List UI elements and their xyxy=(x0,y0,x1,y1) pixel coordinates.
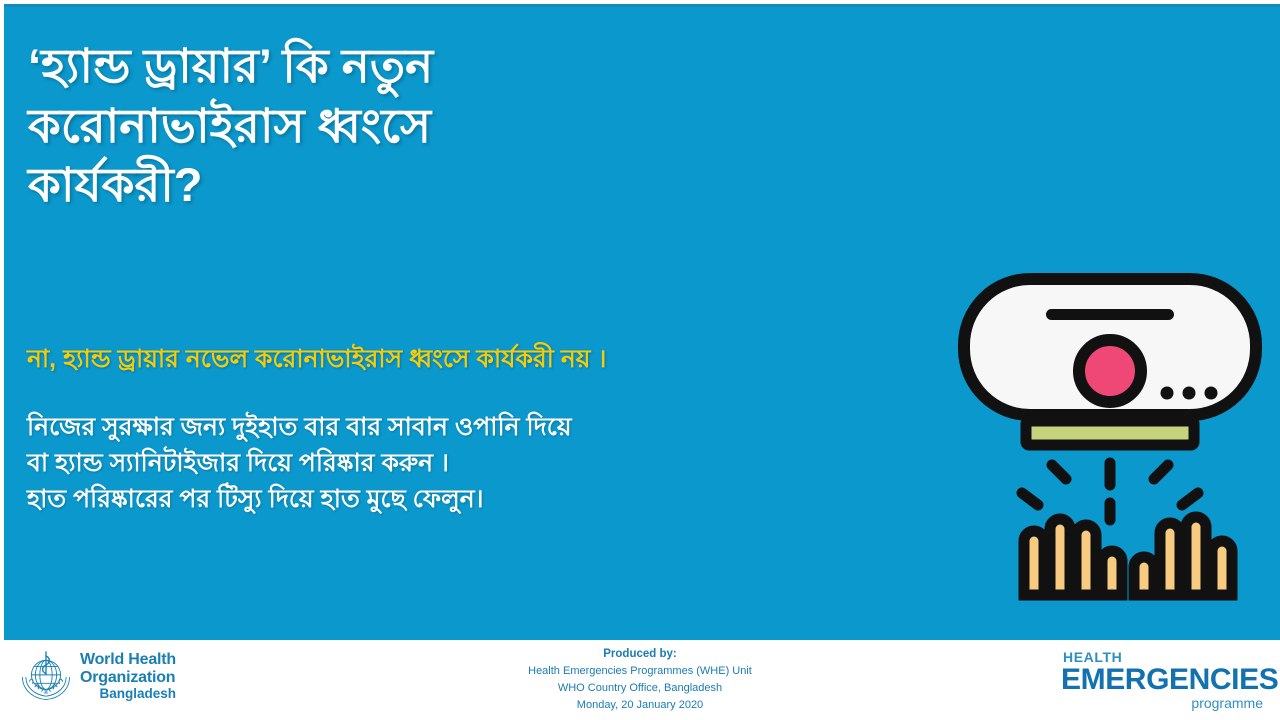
dryer-indicator-dots xyxy=(1161,387,1218,400)
hand-right xyxy=(1134,517,1232,595)
answer-statement: না, হ্যান্ড ড্রায়ার নভেল করোনাভাইরাস ধ্… xyxy=(27,343,927,376)
poster-root: ‘হ্যান্ড ড্রায়ার’ কি নতুন করোনাভাইরাস ধ… xyxy=(0,0,1280,720)
credit-unit: Health Emergencies Programmes (WHE) Unit xyxy=(440,663,840,680)
credit-office: WHO Country Office, Bangladesh xyxy=(440,680,840,697)
advice-line-2: বা হ্যান্ড স্যানিটাইজার দিয়ে পরিষ্কার ক… xyxy=(27,446,927,482)
page-title: ‘হ্যান্ড ড্রায়ার’ কি নতুন করোনাভাইরাস ধ… xyxy=(28,36,768,215)
advice-line-3: হাত পরিষ্কারের পর টিস্যু দিয়ে হাত মুছে … xyxy=(27,482,927,518)
who-emblem-icon xyxy=(18,648,74,704)
advice-block: নিজের সুরক্ষার জন্য দুইহাত বার বার সাবান… xyxy=(27,410,927,517)
advice-line-1: নিজের সুরক্ষার জন্য দুইহাত বার বার সাবান… xyxy=(27,410,927,446)
headline-line-1: ‘হ্যান্ড ড্রায়ার’ কি নতুন xyxy=(28,36,768,96)
hand-dryer-icon xyxy=(950,265,1270,605)
hand-left xyxy=(1024,519,1122,595)
who-country-label: Bangladesh xyxy=(80,687,176,702)
headline-line-3: কার্যকরী? xyxy=(28,155,768,215)
who-wordmark: World Health Organization Bangladesh xyxy=(80,648,176,702)
health-emergencies-programme-logo: HEALTH EMERGENCIES programme xyxy=(1061,650,1266,710)
footer-bar: World Health Organization Bangladesh Pro… xyxy=(0,640,1280,720)
credit-produced-by: Produced by: xyxy=(440,646,840,663)
hep-emergencies-label: EMERGENCIES xyxy=(1061,665,1266,695)
air-stream-dashes xyxy=(1022,463,1198,520)
who-logo: World Health Organization Bangladesh xyxy=(18,648,176,704)
dryer-power-button xyxy=(1079,340,1141,402)
dryer-slot-bar xyxy=(1046,309,1174,320)
who-name-line-2: Organization xyxy=(80,669,176,687)
who-name-line-1: World Health xyxy=(80,651,176,669)
credit-date: Monday, 20 January 2020 xyxy=(440,697,840,714)
top-divider-rule xyxy=(4,4,1280,7)
dryer-vent-strip xyxy=(1026,421,1194,445)
credit-block: Produced by: Health Emergencies Programm… xyxy=(440,646,840,714)
headline-line-2: করোনাভাইরাস ধ্বংসে xyxy=(28,96,768,156)
hep-programme-label: programme xyxy=(1061,696,1266,711)
